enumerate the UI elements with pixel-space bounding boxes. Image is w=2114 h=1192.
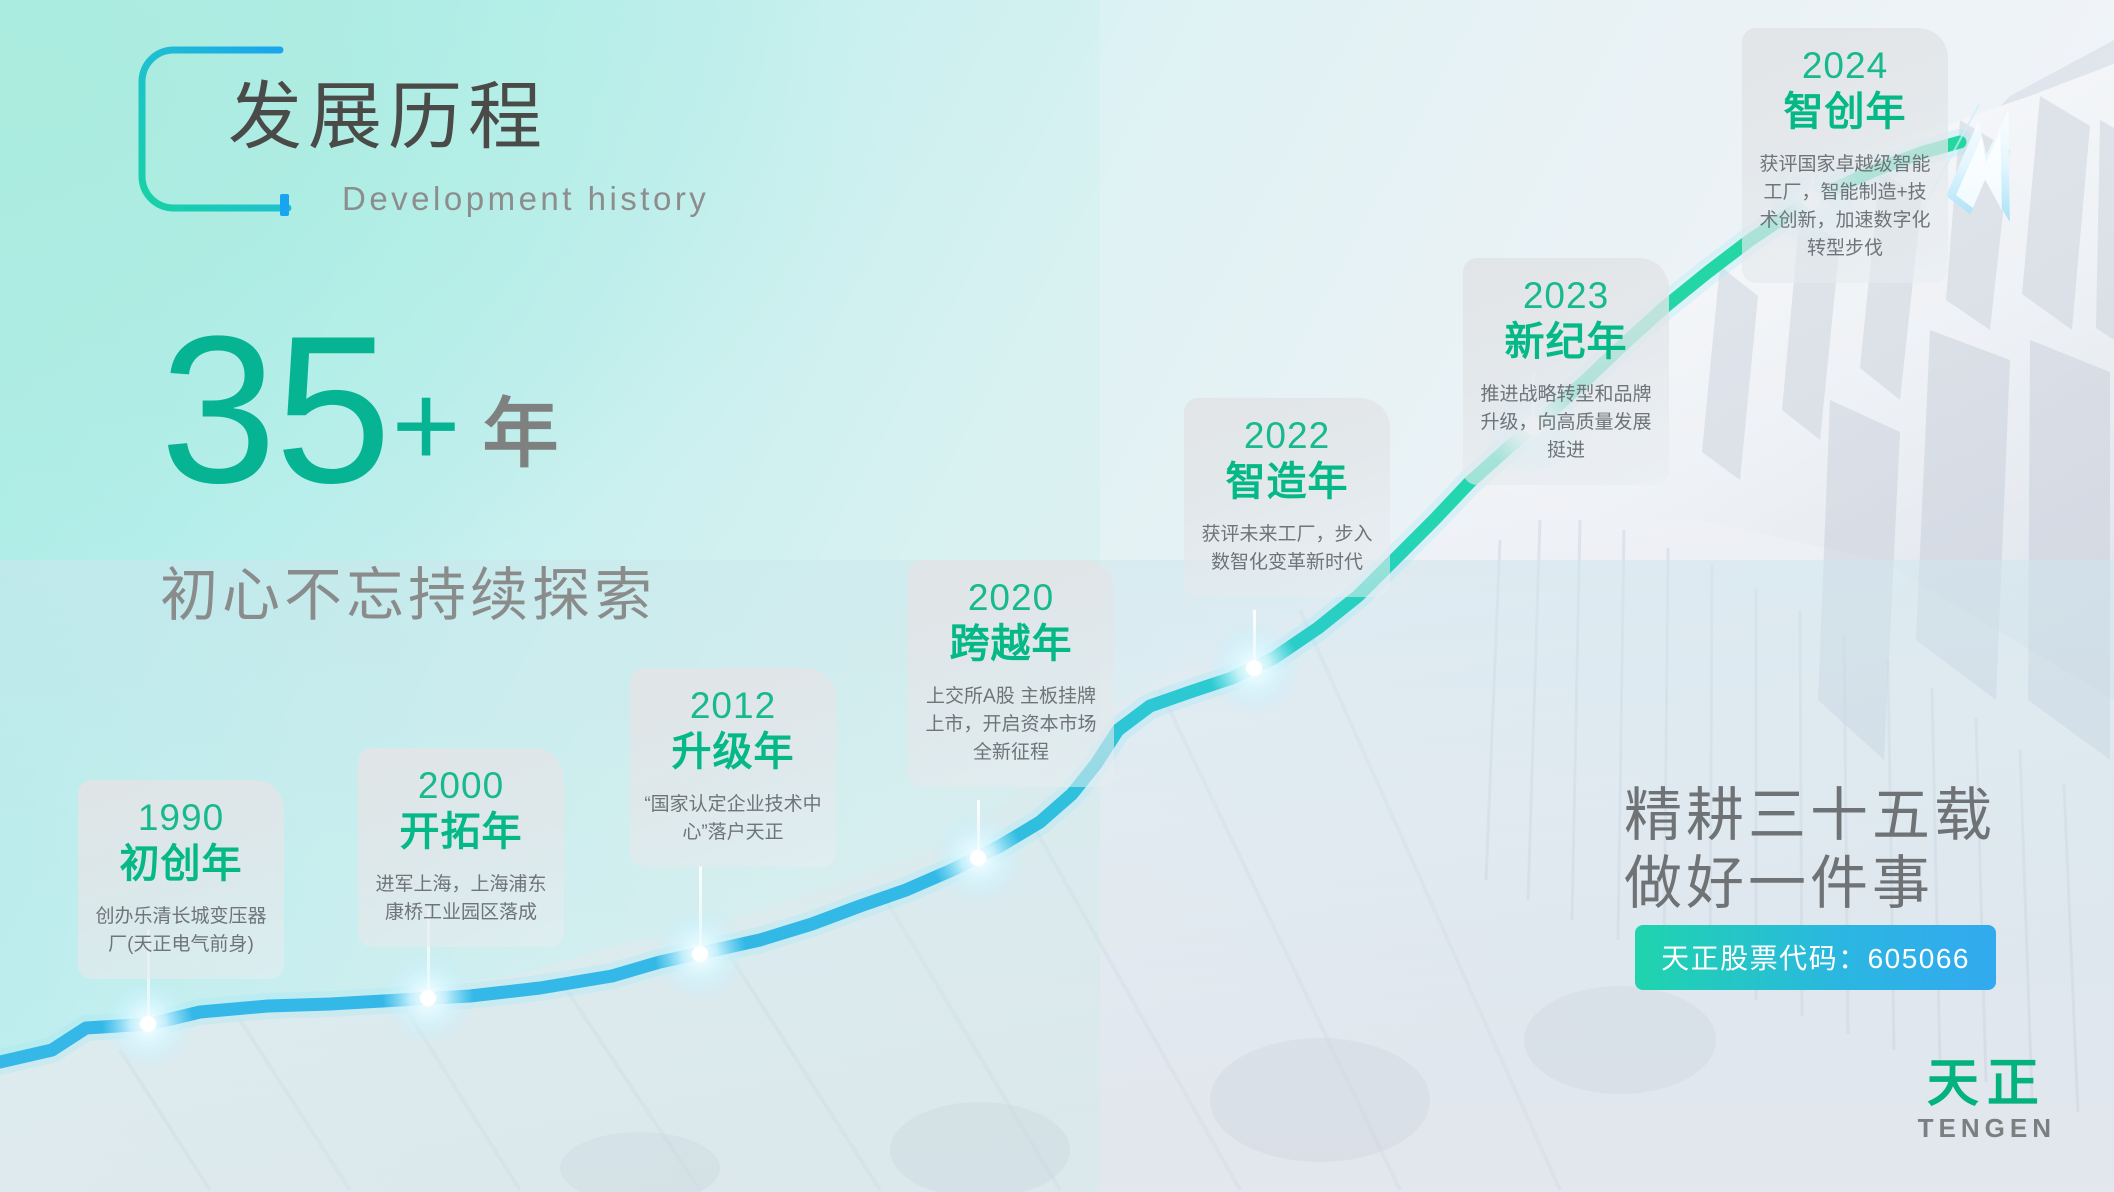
- milestone-year: 2024: [1756, 46, 1934, 87]
- milestone-card-2012[interactable]: 2012 升级年 “国家认定企业技术中心”落户天正: [630, 668, 836, 867]
- milestone-tag: 智创年: [1756, 89, 1934, 135]
- milestone-card-2022[interactable]: 2022 智造年 获评未来工厂，步入数智化变革新时代: [1184, 398, 1390, 597]
- milestone-tag: 智造年: [1198, 459, 1376, 505]
- milestone-desc: 获评国家卓越级智能工厂，智能制造+技术创新，加速数字化转型步伐: [1756, 151, 1934, 263]
- milestone-card-2020[interactable]: 2020 跨越年 上交所A股 主板挂牌上市，开启资本市场全新征程: [908, 560, 1114, 787]
- slogan-line-1: 精耕三十五载: [1624, 782, 1996, 850]
- milestone-card-2024[interactable]: 2024 智创年 获评国家卓越级智能工厂，智能制造+技术创新，加速数字化转型步伐: [1742, 28, 1948, 283]
- milestone-desc: “国家认定企业技术中心”落户天正: [644, 791, 822, 847]
- years-stat: 35 + 年: [160, 318, 559, 503]
- milestone-tag: 新纪年: [1477, 319, 1655, 365]
- milestone-card-2000[interactable]: 2000 开拓年 进军上海，上海浦东康桥工业园区落成: [358, 748, 564, 947]
- stem-2012: [699, 866, 702, 956]
- logo-cn: 天正: [1918, 1058, 2056, 1110]
- milestone-year: 1990: [92, 798, 270, 839]
- milestone-year: 2022: [1198, 416, 1376, 457]
- milestone-year: 2000: [372, 766, 550, 807]
- years-number: 35: [160, 318, 390, 503]
- years-subtitle: 初心不忘持续探索: [160, 548, 656, 632]
- logo-en: TENGEN: [1918, 1112, 2056, 1146]
- stem-2020: [977, 800, 980, 862]
- years-unit: 年: [483, 397, 559, 473]
- milestone-desc: 推进战略转型和品牌升级，向高质量发展挺进: [1477, 381, 1655, 465]
- milestone-year: 2012: [644, 686, 822, 727]
- milestone-desc: 上交所A股 主板挂牌上市，开启资本市场全新征程: [922, 683, 1100, 767]
- milestone-tag: 开拓年: [372, 809, 550, 855]
- milestone-tag: 升级年: [644, 729, 822, 775]
- milestone-year: 2023: [1477, 276, 1655, 317]
- tengen-logo: 天正 TENGEN: [1918, 1058, 2056, 1146]
- page-subtitle: Development history: [342, 182, 709, 215]
- milestone-card-1990[interactable]: 1990 初创年 创办乐清长城变压器厂(天正电气前身): [78, 780, 284, 979]
- stock-code-badge: 天正股票代码：605066: [1635, 925, 1996, 990]
- page-title: 发展历程: [228, 80, 548, 154]
- development-history-poster: 发展历程 Development history 35 + 年 初心不忘持续探索…: [0, 0, 2114, 1192]
- milestone-card-2023[interactable]: 2023 新纪年 推进战略转型和品牌升级，向高质量发展挺进: [1463, 258, 1669, 485]
- milestone-desc: 创办乐清长城变压器厂(天正电气前身): [92, 903, 270, 959]
- milestone-desc: 获评未来工厂，步入数智化变革新时代: [1198, 521, 1376, 577]
- milestone-tag: 跨越年: [922, 621, 1100, 667]
- years-plus: +: [392, 367, 461, 485]
- slogan-line-2: 做好一件事: [1624, 850, 1996, 918]
- slogan: 精耕三十五载 做好一件事: [1624, 782, 1996, 919]
- milestone-tag: 初创年: [92, 841, 270, 887]
- milestone-year: 2020: [922, 578, 1100, 619]
- stem-2022: [1253, 610, 1256, 672]
- milestone-desc: 进军上海，上海浦东康桥工业园区落成: [372, 871, 550, 927]
